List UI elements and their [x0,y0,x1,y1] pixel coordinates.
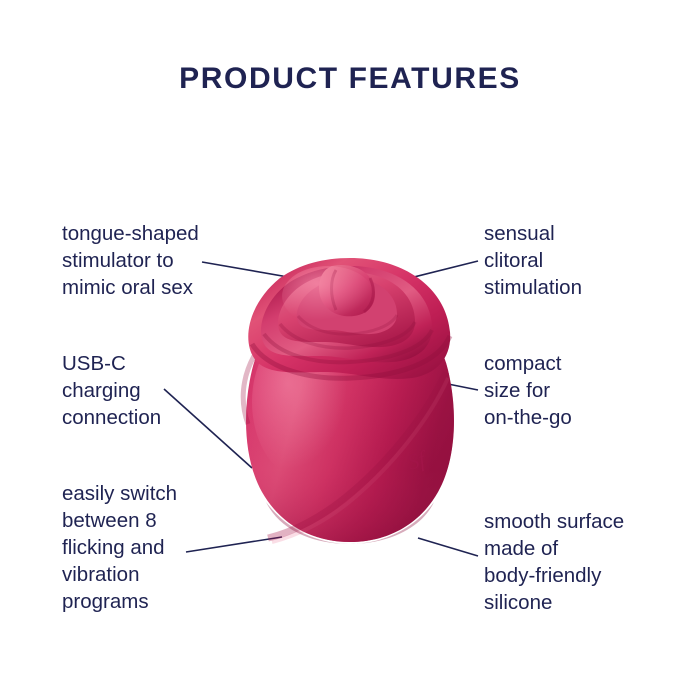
callout-line: charging [62,377,161,404]
callout-line: size for [484,377,572,404]
callout-smooth-silicone-surface: smooth surface made of body-friendly sil… [484,508,624,616]
callout-line: mimic oral sex [62,274,199,301]
callout-usb-c-charging: USB-C charging connection [62,350,161,431]
callout-line: between 8 [62,507,177,534]
callout-line: connection [62,404,161,431]
callout-line: made of [484,535,624,562]
infographic-page: PRODUCT FEATURES [0,0,700,700]
callout-line: smooth surface [484,508,624,535]
callout-line: stimulator to [62,247,199,274]
callout-line: USB-C [62,350,161,377]
product-image: Sf [232,252,468,552]
callout-flicking-vibration-programs: easily switch between 8 flicking and vib… [62,480,177,615]
callout-line: body-friendly [484,562,624,589]
callout-line: vibration [62,561,177,588]
callout-tongue-shaped-stimulator: tongue-shaped stimulator to mimic oral s… [62,220,199,301]
product-petals [248,258,450,379]
callout-line: stimulation [484,274,582,301]
callout-line: flicking and [62,534,177,561]
callout-line: sensual [484,220,582,247]
callout-line: silicone [484,589,624,616]
page-title: PRODUCT FEATURES [0,62,700,96]
callout-line: on-the-go [484,404,572,431]
callout-line: tongue-shaped [62,220,199,247]
callout-line: easily switch [62,480,177,507]
callout-sensual-clitoral-stimulation: sensual clitoral stimulation [484,220,582,301]
callout-line: programs [62,588,177,615]
callout-line: compact [484,350,572,377]
callout-compact-size: compact size for on-the-go [484,350,572,431]
callout-line: clitoral [484,247,582,274]
